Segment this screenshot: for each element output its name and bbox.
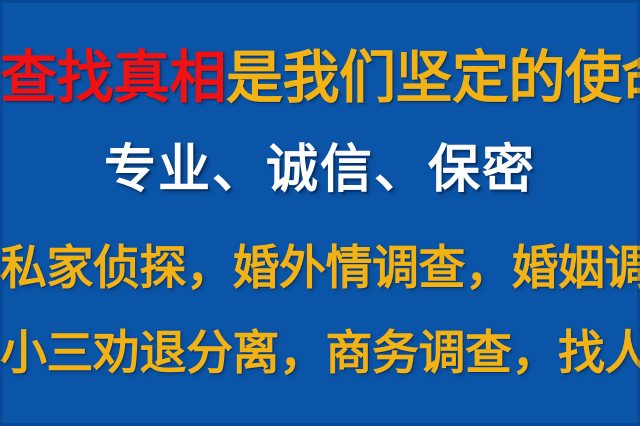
services-list-line-two: 小三劝退分离，商务调查，找人寻人 [0,330,640,377]
services-list-line-one: 私家侦探，婚外情调查，婚姻调查， [0,245,640,292]
headline-emphasis-text: 查找真相 [0,45,226,111]
values-tagline-text: 专业、诚信、保密 [0,144,640,196]
advertisement-banner: 查找真相是我们坚定的使命 专业、诚信、保密 私家侦探，婚外情调查，婚姻调查， 小… [0,0,640,426]
headline-text: 查找真相是我们坚定的使命 [0,50,640,107]
headline-remainder-text: 是我们坚定的使命 [226,45,640,111]
